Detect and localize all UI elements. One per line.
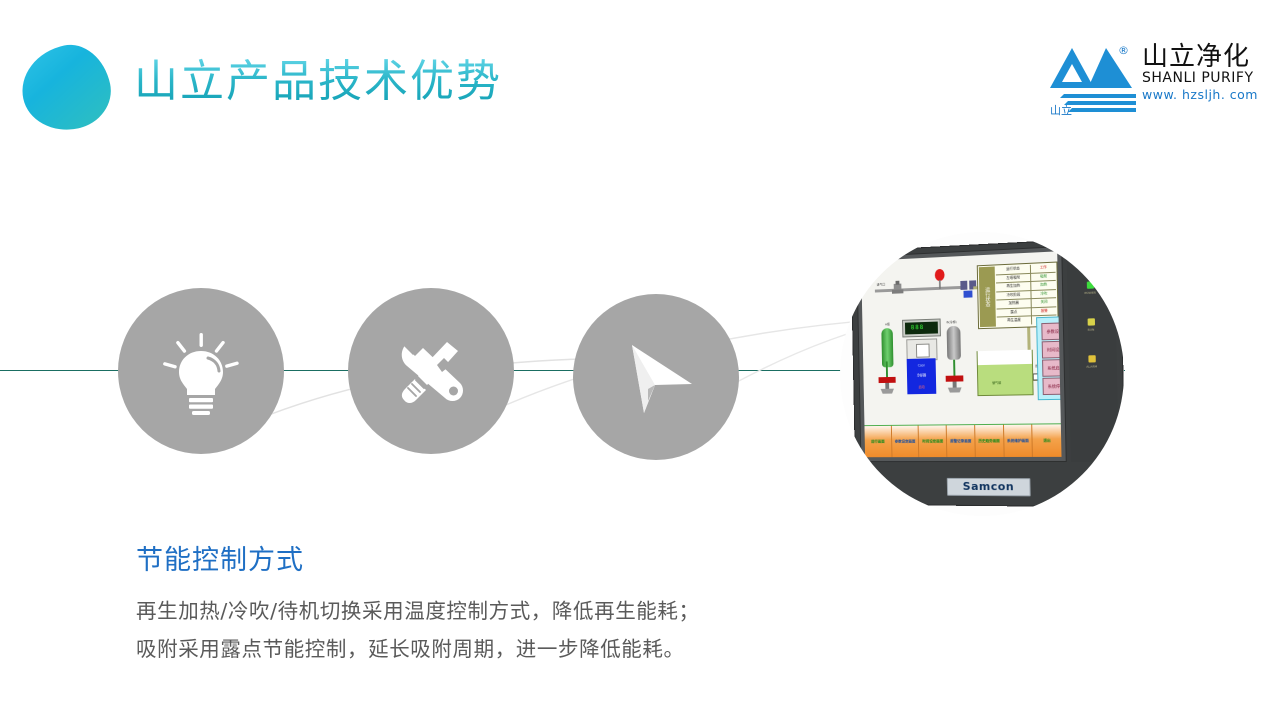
led-power-label: POWER: [1079, 290, 1102, 295]
status-value: 吸附: [1031, 272, 1055, 281]
hmi-menu-button[interactable]: 参数设置: [1041, 322, 1061, 340]
inlet-pipe: [875, 286, 968, 293]
adsorber-tower-b: [947, 326, 961, 360]
status-panel-title: 运行状态: [979, 266, 996, 327]
valve-left-stem: [886, 361, 888, 377]
valve-right-stem: [953, 360, 955, 376]
cyl-right-label: B(冷却): [946, 320, 956, 324]
led-run-label: RUN: [1079, 327, 1102, 332]
lightbulb-icon: [155, 325, 247, 417]
hmi-menu-button[interactable]: 时间设置: [1042, 341, 1062, 359]
hmi-control-panel-photo: 进气口: [840, 232, 1124, 516]
sidebar-item-idea[interactable]: [118, 288, 284, 454]
hmi-bottom-toolbar: 运行画面 参数设定画面 时间设定画面 报警记录画面 历史趋势画面 系统维护画面 …: [864, 423, 1061, 457]
registered-trademark-icon: ®: [1118, 44, 1129, 57]
inlet-valve-icon: [890, 280, 906, 298]
storage-tank: 储气罐: [977, 350, 1034, 396]
cooler-line-2: 冷却器: [907, 372, 936, 378]
sidebar-item-operation[interactable]: [573, 294, 739, 460]
body-text-line-1: 再生加热/冷吹/待机切换采用温度控制方式，降低再生能耗；: [136, 594, 700, 624]
cooler-unit: Cool 冷却器 启动: [907, 358, 937, 394]
hmi-nav-button[interactable]: 退出: [1033, 424, 1062, 457]
hmi-nav-button[interactable]: 参数设定画面: [892, 426, 920, 458]
led-power-icon: [1087, 281, 1094, 288]
hmi-nav-button[interactable]: 系统维护画面: [1004, 425, 1034, 457]
cooler-line-1: Cool: [907, 363, 936, 368]
hmi-screen[interactable]: 进气口: [861, 251, 1061, 457]
status-key: 再生加热: [996, 282, 1032, 291]
storage-tank-label: 储气罐: [992, 381, 1001, 385]
device-brand-label: Samcon: [947, 478, 1031, 496]
inlet-label: 进气口: [877, 282, 886, 286]
hmi-bezel: 进气口: [856, 246, 1066, 462]
page-title: 山立产品技术优势: [134, 58, 502, 106]
hmi-side-bezel: POWER RUN ALARM: [1066, 243, 1119, 462]
led-run-icon: [1088, 318, 1095, 325]
logo-text-block: 山立净化 SHANLI PURIFY www. hzsljh. com: [1142, 44, 1262, 102]
valve-left-icon: [877, 375, 898, 395]
cyl-left-label: A塔: [885, 322, 890, 326]
hmi-menu-panel: 参数设置 时间设置 系统启动 系统停止: [1036, 316, 1061, 400]
dual-filter-icon: [959, 279, 977, 300]
led-alarm-label: ALARM: [1080, 364, 1103, 369]
hmi-menu-button[interactable]: 系统启动: [1042, 359, 1061, 377]
cooler-line-3: 启动: [907, 384, 936, 389]
logo-website-url: www. hzsljh. com: [1142, 87, 1262, 102]
status-key: 左塔吸附: [996, 273, 1032, 282]
status-value: 加热: [1032, 281, 1056, 290]
section-heading: 节能控制方式: [136, 538, 304, 577]
logo-name-en: SHANLI PURIFY: [1142, 71, 1262, 86]
hmi-menu-button[interactable]: 系统停止: [1042, 377, 1061, 395]
hmi-nav-button[interactable]: 历史趋势画面: [975, 425, 1004, 457]
hmi-device: 进气口: [851, 237, 1124, 508]
hmi-nav-button[interactable]: 时间设定画面: [919, 425, 947, 457]
wrench-screwdriver-icon: [385, 325, 477, 417]
status-key: 露点: [997, 308, 1033, 317]
led-alarm-icon: [1088, 355, 1095, 362]
status-value: 关闭: [1032, 298, 1056, 307]
status-value: 报警: [1032, 307, 1056, 315]
slide-root: 山立产品技术优势 ® 山立 山立净化 SHANLI PURIFY www. hz…: [0, 0, 1280, 720]
cursor-arrow-icon: [608, 329, 704, 425]
status-key: 加热器: [996, 299, 1032, 308]
valve-right-icon: [944, 373, 966, 393]
logo-name-cn: 山立净化: [1142, 44, 1262, 71]
status-value: 工作: [1031, 264, 1055, 273]
relief-indicator-icon: [934, 269, 946, 289]
hmi-nav-button[interactable]: 报警记录画面: [947, 425, 976, 457]
status-value: 冷吹: [1032, 290, 1056, 299]
digital-display: 888: [902, 318, 941, 337]
company-logo: ® 山立 山立净化 SHANLI PURIFY www. hzsljh. com: [1046, 42, 1262, 120]
status-key: 再生温度: [997, 316, 1033, 325]
status-key: 冷吹阶段: [996, 291, 1032, 300]
logo-mark-label: 山立: [1050, 102, 1072, 118]
controller-window: [916, 344, 930, 358]
decorative-blob-icon: [14, 38, 118, 138]
display-digits: 888: [911, 324, 924, 331]
hmi-nav-button[interactable]: 运行画面: [864, 426, 892, 457]
sidebar-item-engineering[interactable]: [348, 288, 514, 454]
body-text-line-2: 吸附采用露点节能控制，延长吸附周期，进一步降低能耗。: [136, 632, 685, 662]
